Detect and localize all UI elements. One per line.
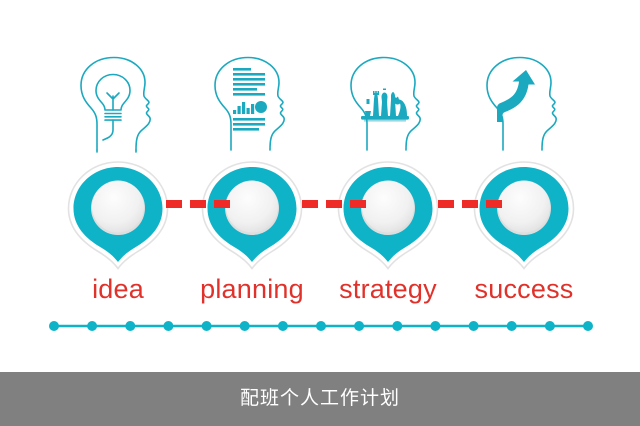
head-with-chess-pieces-icon <box>328 52 448 157</box>
head-with-growth-arrow-icon <box>464 52 584 157</box>
step-label-row: idea planning strategy success <box>0 272 640 312</box>
step-label-success: success <box>439 272 609 306</box>
pin-marker-success[interactable] <box>472 160 576 270</box>
pin-marker-row <box>0 160 640 270</box>
dash-segment <box>190 200 206 208</box>
infographic-canvas: idea planning strategy success <box>0 0 640 426</box>
dash-segment <box>166 200 182 208</box>
teal-dotted-rule <box>48 319 594 333</box>
dash-segment <box>302 200 318 208</box>
dash-segment <box>462 200 478 208</box>
caption-band: 配班个人工作计划 <box>0 372 640 426</box>
dash-segment <box>438 200 454 208</box>
caption-text: 配班个人工作计划 <box>240 372 400 426</box>
dash-segment <box>350 200 366 208</box>
head-with-lightbulb-icon <box>58 52 178 157</box>
pin-marker-planning[interactable] <box>200 160 304 270</box>
dash-segment <box>486 200 502 208</box>
head-with-report-chart-icon <box>192 52 312 157</box>
head-icon-row <box>0 52 640 157</box>
red-dashed-connector-1 <box>166 200 234 208</box>
red-dashed-connector-2 <box>302 200 370 208</box>
red-dashed-connector-3 <box>438 200 506 208</box>
pin-marker-strategy[interactable] <box>336 160 440 270</box>
pin-marker-idea[interactable] <box>66 160 170 270</box>
dash-segment <box>326 200 342 208</box>
dash-segment <box>214 200 230 208</box>
